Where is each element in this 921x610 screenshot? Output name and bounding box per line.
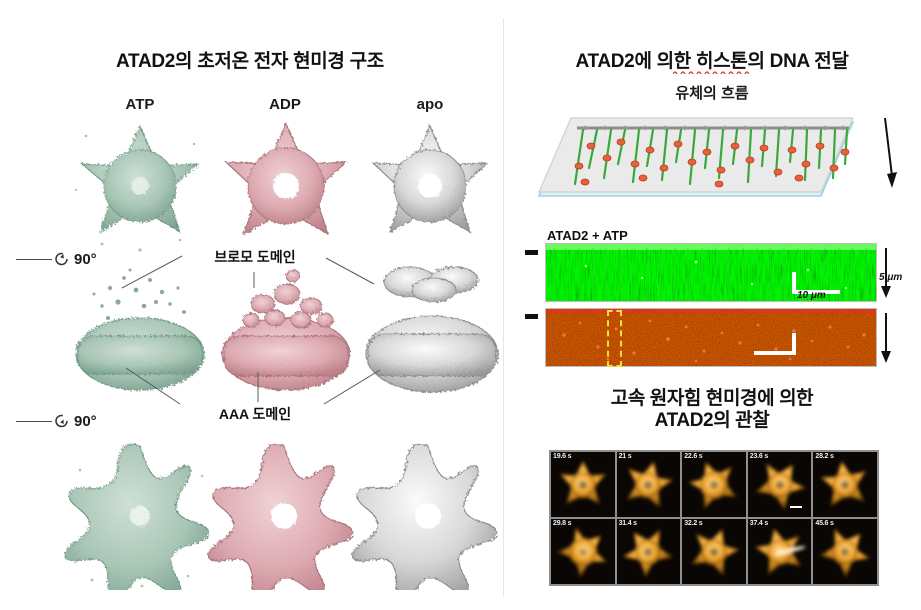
afm-blob-icon: [618, 523, 678, 581]
rotation-axis-line: [16, 259, 52, 260]
hs-afm-title-line2: ATAD2의 관찰: [503, 410, 921, 432]
rotate-90-icon: [54, 412, 70, 430]
afm-blob-icon: [684, 456, 744, 514]
column-label-adp: ADP: [240, 96, 330, 113]
right-panel: ATAD2에 의한 히스톤의 DNA 전달 유체의 흐름: [503, 0, 921, 610]
afm-blob-icon: [750, 523, 810, 581]
afm-frame-time: 32.2 s: [684, 520, 702, 527]
figure-canvas: ATAD2의 초저온 전자 현미경 구조 ATP ADP apo: [0, 0, 921, 610]
dna-curtain-illustration: [531, 106, 861, 206]
afm-frame-time: 21 s: [619, 453, 632, 460]
kymograph-red-roi-marker: [607, 310, 622, 367]
rotation-marker-2: 90°: [16, 412, 97, 430]
hs-afm-montage: 19.6 s 21 s: [549, 450, 879, 586]
afm-blob-icon: [815, 523, 875, 581]
column-label-atp: ATP: [95, 96, 185, 113]
afm-blob-icon: [750, 456, 810, 514]
cryoem-map-apo-bottom: [350, 440, 506, 590]
cryoem-map-adp-bottom: [206, 440, 362, 590]
afm-frame: 31.4 s: [617, 519, 681, 584]
afm-frame-time: 29.8 s: [553, 520, 571, 527]
kymograph-red: [545, 308, 877, 367]
afm-frame-time: 31.4 s: [619, 520, 637, 527]
cryoem-map-atp-bottom: [62, 440, 218, 590]
kymograph-green-scalebar-horizontal: 10 μm: [797, 290, 826, 301]
afm-blob-icon: [553, 523, 613, 581]
kymograph-red-flow-arrow-down-icon: [877, 311, 901, 367]
afm-frame: 28.2 s: [813, 452, 877, 517]
afm-blob-icon: [815, 456, 875, 514]
cryoem-map-atp-top: [62, 116, 218, 256]
afm-frame: 45.6 s: [813, 519, 877, 584]
aaa-domain-leaders: [118, 366, 386, 410]
afm-scalebar: [790, 506, 802, 508]
afm-blob-icon: [684, 523, 744, 581]
afm-frame-time: 23.6 s: [750, 453, 768, 460]
cryoem-map-apo-top: [352, 116, 508, 256]
afm-frame: 29.8 s: [551, 519, 615, 584]
afm-frame-time: 45.6 s: [815, 520, 833, 527]
afm-frame-time: 22.6 s: [684, 453, 702, 460]
afm-frame-time: 19.6 s: [553, 453, 571, 460]
afm-frame: 32.2 s: [682, 519, 746, 584]
afm-frame: 22.6 s: [682, 452, 746, 517]
rotation-angle-label-2: 90°: [74, 413, 97, 430]
hs-afm-title-line1: 고속 원자힘 현미경에 의한: [503, 388, 921, 410]
kymograph-green-label: ATAD2 + ATP: [547, 228, 628, 243]
left-panel-title: ATAD2의 초저온 전자 현미경 구조: [0, 46, 500, 73]
rotation-axis-line: [16, 421, 52, 422]
kymograph-green: [545, 243, 877, 302]
kymograph-green-flow-arrow-down-icon: [877, 246, 901, 302]
right-panel-title: ATAD2에 의한 히스톤의 DNA 전달: [503, 46, 921, 73]
afm-frame: 21 s: [617, 452, 681, 517]
left-panel: ATAD2의 초저온 전자 현미경 구조 ATP ADP apo: [0, 0, 500, 610]
column-label-apo: apo: [385, 96, 475, 113]
kymograph-red-tick-icon: [525, 314, 538, 319]
kymograph-green-tick-icon: [525, 250, 538, 255]
afm-blob-icon: [618, 456, 678, 514]
fluid-flow-caption: 유체의 흐름: [503, 82, 921, 103]
afm-frame: 23.6 s: [748, 452, 812, 517]
afm-frame: 19.6 s: [551, 452, 615, 517]
flow-arrow-down-icon: [873, 116, 903, 196]
afm-frame: 37.4 s: [748, 519, 812, 584]
afm-frame-time: 28.2 s: [815, 453, 833, 460]
afm-frame-time: 37.4 s: [750, 520, 768, 527]
spellcheck-squiggle: [673, 70, 749, 74]
bromo-domain-leaders: [118, 240, 378, 292]
cryoem-map-adp-top: [208, 116, 364, 256]
afm-blob-icon: [553, 456, 613, 514]
